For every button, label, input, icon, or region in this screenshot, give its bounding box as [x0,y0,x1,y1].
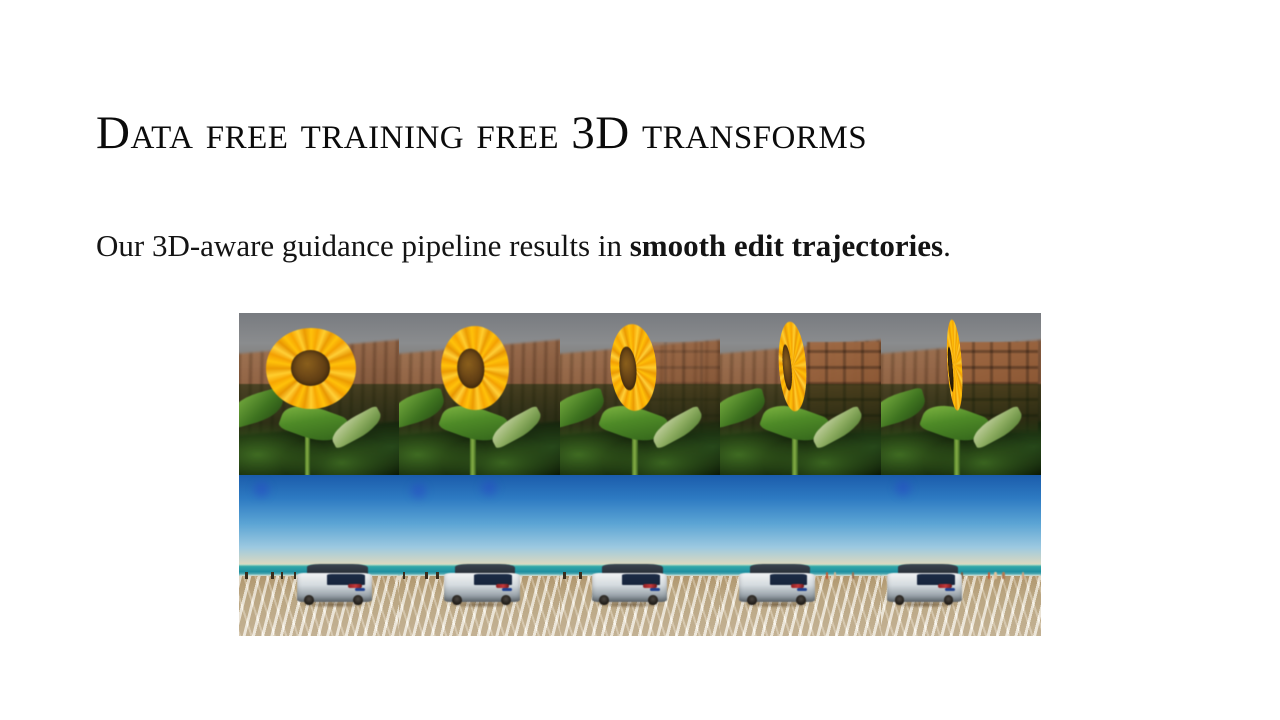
car [592,564,667,606]
car [444,564,519,606]
beach-car-frame-2 [399,475,559,636]
wheel [747,595,757,605]
page-title: Data free training free 3D transforms [96,109,867,158]
sunflower-frame-3 [560,313,720,475]
subtitle-trail: . [943,228,951,263]
beachgoer [994,572,996,578]
wheel [452,595,462,605]
licence-plate [650,588,660,591]
beachgoer [1022,572,1024,578]
shore-post [281,572,284,579]
sunflower-frame-4 [720,313,880,475]
shore-post [425,572,428,579]
sunflower-head [437,322,512,414]
car [887,564,962,606]
licence-plate [355,588,365,591]
beach-car-frame-4 [720,475,880,636]
sky-artifact [476,477,502,500]
beach-car-frame-5 [881,475,1041,636]
sunflower-frame-1 [239,313,399,475]
licence-plate [797,588,807,591]
result-grid [239,313,1041,636]
sky-background [720,475,880,568]
beachgoer [988,572,990,578]
sky-artifact [249,478,275,501]
shore-post [294,572,297,579]
shore-post [563,572,566,579]
shore-post [436,572,439,579]
wheel [796,595,806,605]
shore-post [579,572,582,579]
licence-plate [502,588,512,591]
beach-car-frame-3 [560,475,720,636]
beachgoer [852,572,854,578]
shore-post [245,572,248,579]
subtitle-lead: Our 3D-aware guidance pipeline results i… [96,228,630,263]
shore-post [403,572,406,579]
sunflower-frame-5 [881,313,1041,475]
beachgoer [834,572,836,578]
subtitle-line: Our 3D-aware guidance pipeline results i… [96,227,951,264]
shore-post [271,572,274,579]
car [297,564,372,606]
flower-disc [291,350,331,386]
wheel [501,595,511,605]
beach-car-frame-1 [239,475,399,636]
licence-plate [945,588,955,591]
sunflower-frame-2 [399,313,559,475]
sunflower-head [266,328,356,409]
sky-artifact [890,477,916,500]
beachgoer [826,572,828,578]
car [739,564,814,606]
beachgoer [1002,572,1004,578]
subtitle-emphasis: smooth edit trajectories [630,228,943,263]
sky-background [560,475,720,568]
